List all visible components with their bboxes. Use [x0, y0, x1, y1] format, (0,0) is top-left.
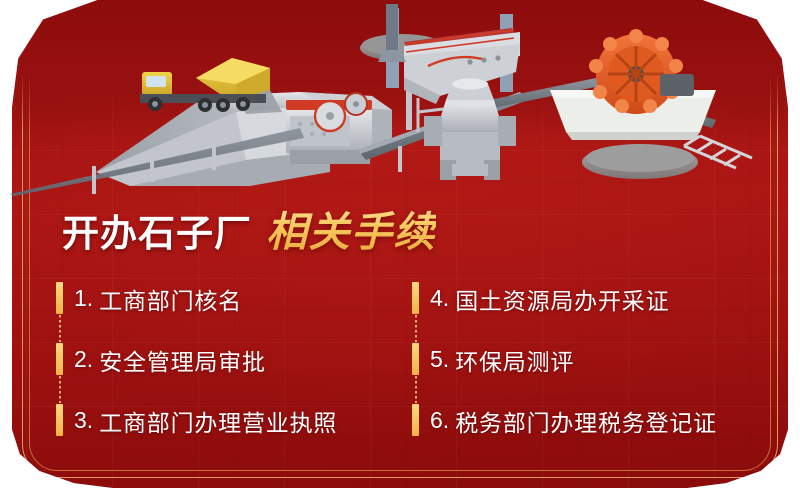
list-item-label: 安全管理局审批 [99, 343, 266, 377]
top-shade-gradient [12, 0, 788, 150]
list-item[interactable]: 3. 工商部门办理营业执照 [56, 390, 412, 451]
page-title: 开办石子厂 相关手续 [62, 198, 436, 252]
list-item[interactable]: 2. 安全管理局审批 [56, 329, 412, 390]
gold-bar-marker [56, 282, 63, 314]
gold-bar-marker [56, 404, 63, 436]
gold-bar-marker [412, 282, 419, 314]
list-item-label: 环保局测评 [455, 343, 574, 377]
title-white-part: 开办石子厂 [62, 203, 252, 257]
procedure-list: 1. 工商部门核名 4. 国土资源局办开采证 2. 安全管理局审批 5. 环保局… [56, 268, 746, 451]
list-item[interactable]: 6. 税务部门办理税务登记证 [412, 390, 746, 451]
list-item-number: 2. [74, 346, 93, 373]
list-item-number: 6. [430, 407, 449, 434]
list-item[interactable]: 1. 工商部门核名 [56, 268, 412, 329]
list-item-number: 5. [430, 346, 449, 373]
list-item[interactable]: 4. 国土资源局办开采证 [412, 268, 746, 329]
list-item-label: 税务部门办理税务登记证 [455, 404, 717, 438]
gold-border-top-mask [16, 0, 784, 132]
list-item-label: 工商部门办理营业执照 [99, 404, 337, 438]
gold-bar-marker [56, 343, 63, 375]
list-item-label: 国土资源局办开采证 [455, 282, 669, 316]
list-item-number: 1. [74, 285, 93, 312]
gold-bar-marker [412, 404, 419, 436]
list-item-label: 工商部门核名 [99, 282, 242, 316]
gold-bar-marker [412, 343, 419, 375]
list-item-number: 3. [74, 407, 93, 434]
list-item-number: 4. [430, 285, 449, 312]
list-item[interactable]: 5. 环保局测评 [412, 329, 746, 390]
poster-root: 开办石子厂 相关手续 1. 工商部门核名 4. 国土资源局办开采证 2. 安全管… [0, 0, 800, 500]
title-gold-part: 相关手续 [266, 198, 436, 258]
